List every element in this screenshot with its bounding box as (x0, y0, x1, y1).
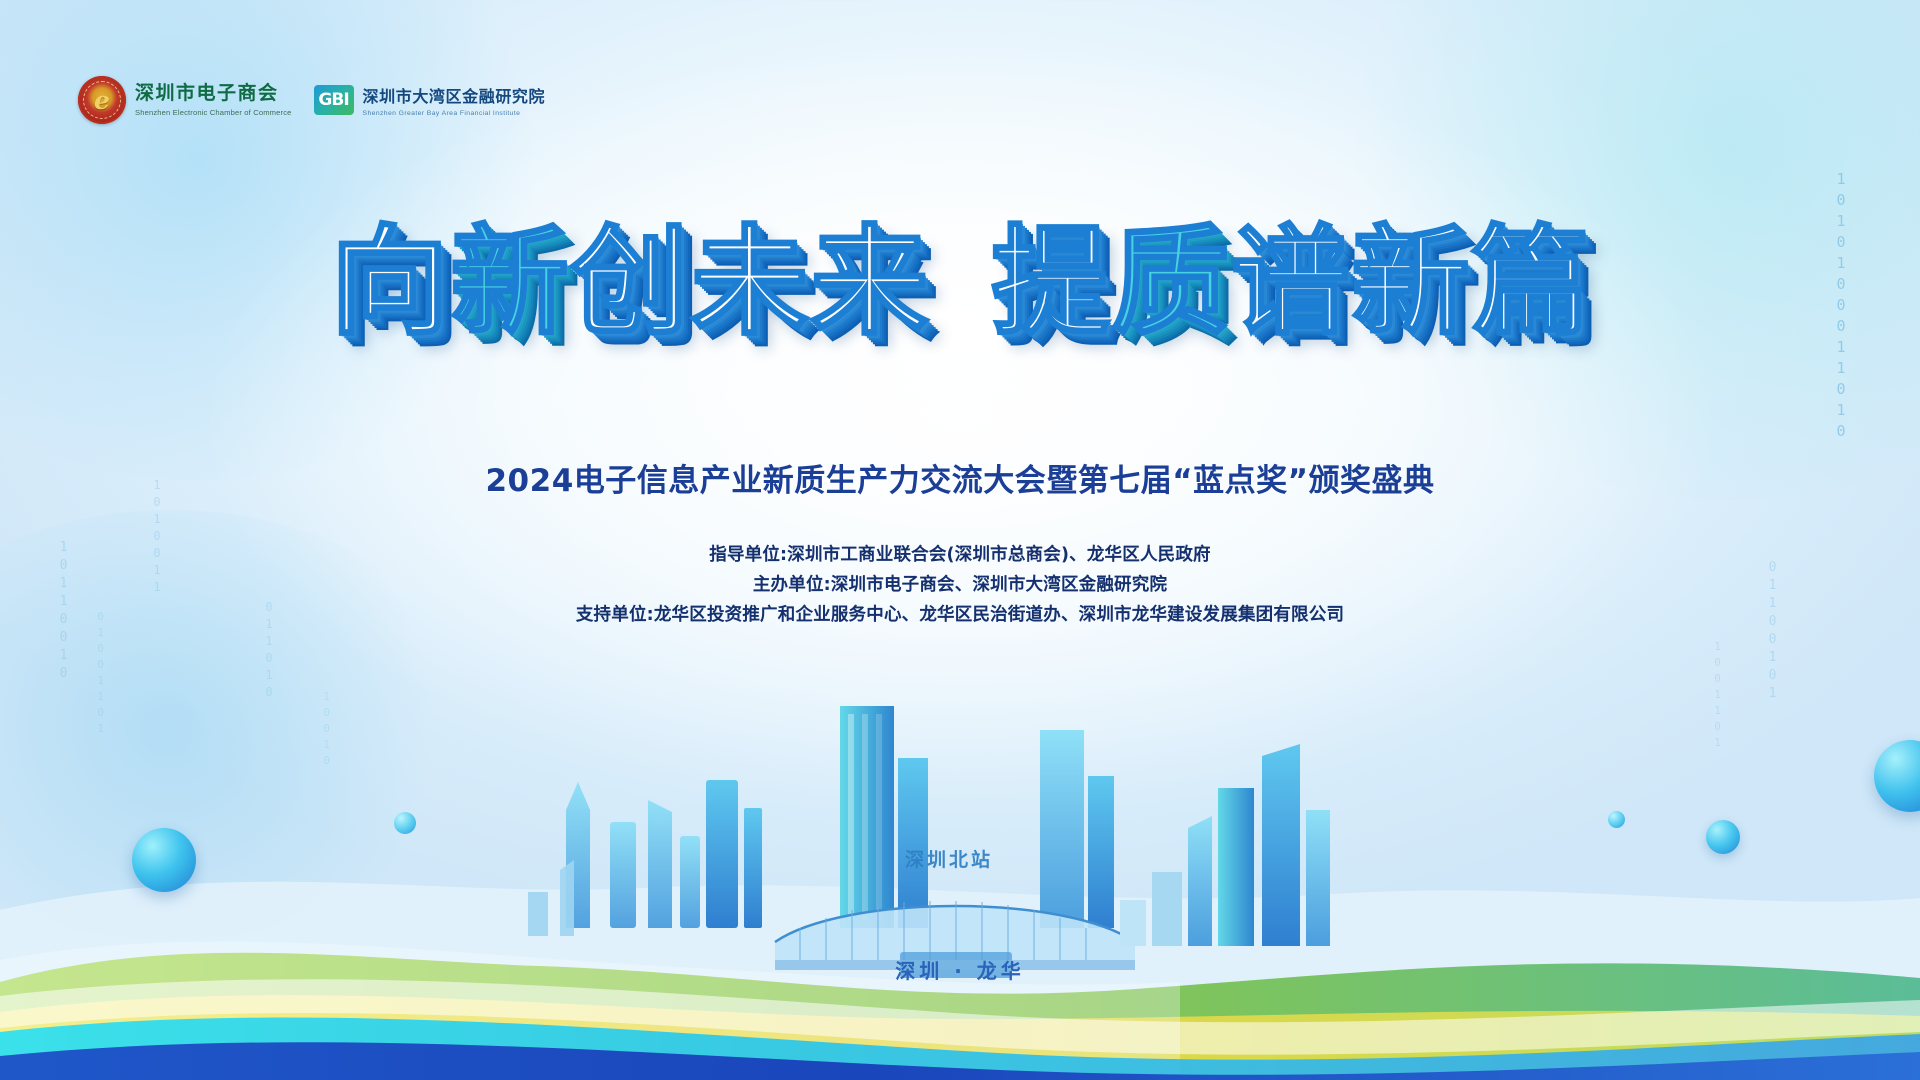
station-label: 深圳北站 (905, 845, 993, 872)
seal-emblem-icon: e (78, 76, 126, 124)
headline-char-seg1-4: 来 (810, 222, 930, 342)
poster-subtitle: 2024电子信息产业新质生产力交流大会暨第七届“蓝点奖”颁奖盛典 (0, 455, 1920, 500)
sponsor-logo-bar: e 深圳市电子商会 Shenzhen Electronic Chamber of… (78, 76, 545, 124)
headline-char-seg1-0: 向 (329, 222, 449, 342)
headline-char-seg1-2: 创 (570, 222, 690, 342)
logo-name-en-2: Shenzhen Greater Bay Area Financial Inst… (363, 110, 546, 117)
city-label: 深圳 · 龙华 (0, 955, 1920, 984)
headline-char-seg2-3: 新 (1351, 222, 1471, 342)
headline-char-seg2-4: 篇 (1471, 222, 1591, 342)
decorative-sphere-3 (1608, 811, 1625, 828)
organizer-block: 指导单位:深圳市工商业联合会(深圳市总商会)、龙华区人民政府 主办单位:深圳市电… (0, 540, 1920, 630)
decorative-sphere-1 (132, 828, 196, 892)
gbi-monogram-icon: GBI (314, 85, 354, 115)
logo-gba-financial-institute: GBI 深圳市大湾区金融研究院 Shenzhen Greater Bay Are… (314, 83, 546, 117)
organizer-line-host: 主办单位:深圳市电子商会、深圳市大湾区金融研究院 (0, 570, 1920, 600)
headline-segment-2: 提质谱新篇 (990, 222, 1590, 342)
decorative-sphere-2 (394, 812, 416, 834)
organizer-line-support: 支持单位:龙华区投资推广和企业服务中心、龙华区民治街道办、深圳市龙华建设发展集团… (0, 600, 1920, 630)
logo-shenzhen-electronic-chamber: e 深圳市电子商会 Shenzhen Electronic Chamber of… (78, 76, 292, 124)
logo-name-en-1: Shenzhen Electronic Chamber of Commerce (135, 108, 292, 117)
headline-char-seg1-3: 未 (690, 222, 810, 342)
headline-char-seg1-1: 新 (449, 222, 569, 342)
headline-char-seg2-0: 提 (990, 222, 1110, 342)
seal-emblem-glyph: e (78, 76, 126, 124)
logo-name-cn-2: 深圳市大湾区金融研究院 (363, 83, 546, 107)
poster-headline: 向新创未来 提质谱新篇 (0, 222, 1920, 342)
logo-name-cn-1: 深圳市电子商会 (135, 83, 292, 105)
organizer-line-guidance: 指导单位:深圳市工商业联合会(深圳市总商会)、龙华区人民政府 (0, 540, 1920, 570)
gbi-monogram-glyph: GBI (314, 85, 354, 115)
headline-char-seg2-2: 谱 (1230, 222, 1350, 342)
headline-segment-1: 向新创未来 (329, 222, 929, 342)
headline-char-seg2-1: 质 (1110, 222, 1230, 342)
decorative-sphere-4 (1706, 820, 1740, 854)
